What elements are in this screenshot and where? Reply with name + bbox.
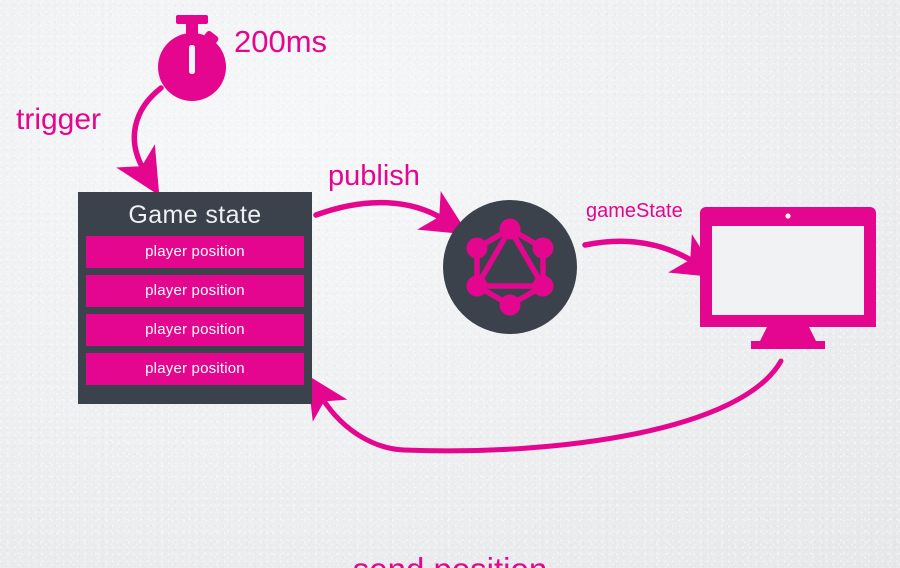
graphql-logo-icon bbox=[443, 200, 577, 334]
monitor-icon bbox=[700, 207, 876, 349]
list-item: player position bbox=[86, 236, 304, 268]
stopwatch-icon bbox=[158, 15, 226, 101]
list-item: player position bbox=[86, 353, 304, 385]
list-item: player position bbox=[86, 275, 304, 307]
trigger-arrow bbox=[134, 88, 161, 170]
timer-label: 200ms bbox=[234, 24, 327, 60]
list-item: player position bbox=[86, 314, 304, 346]
diagram-canvas: Game state player position player positi… bbox=[0, 0, 900, 568]
player-position-list: player position player position player p… bbox=[86, 236, 304, 385]
send-position-arrow bbox=[322, 361, 781, 451]
send-position-label: send position every 100ms bbox=[0, 460, 900, 568]
gamestate-label: gameState bbox=[586, 200, 683, 223]
game-state-title: Game state bbox=[86, 196, 304, 234]
publish-label: publish bbox=[328, 160, 420, 193]
publish-arrow bbox=[316, 203, 443, 219]
trigger-label: trigger bbox=[16, 103, 101, 137]
send-position-line-1: send position bbox=[0, 548, 900, 568]
game-state-panel: Game state player position player positi… bbox=[78, 192, 312, 404]
gamestate-arrow bbox=[585, 241, 694, 262]
